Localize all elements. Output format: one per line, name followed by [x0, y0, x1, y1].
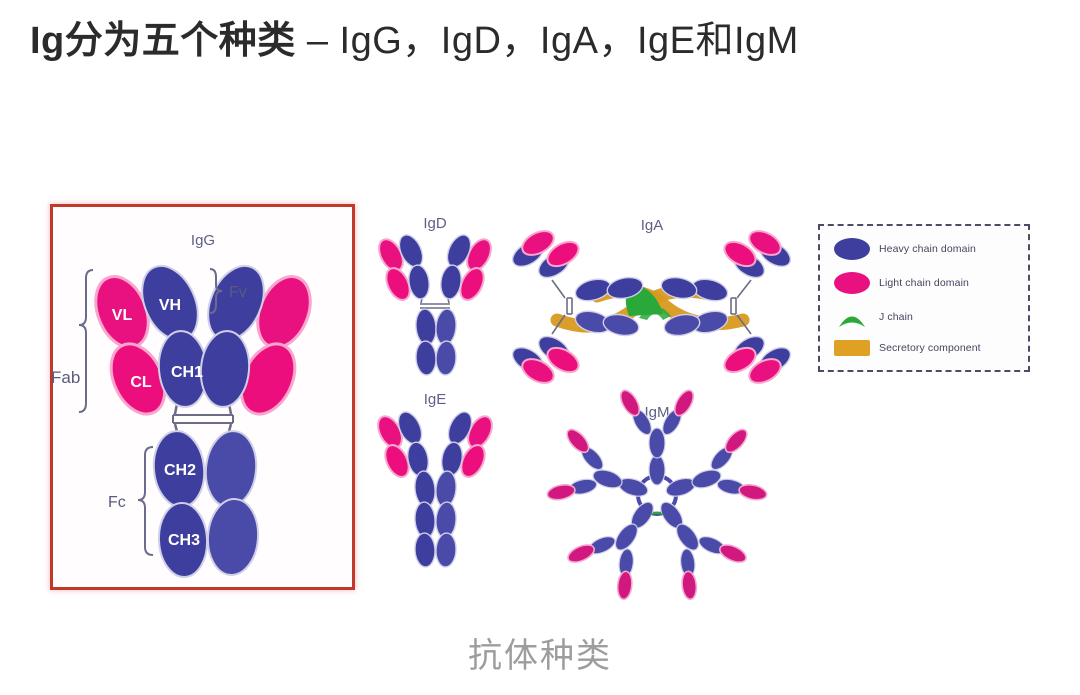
igg-region-fv: Fv: [229, 284, 247, 301]
igd-diagram: IgD: [370, 210, 500, 375]
igg-domain-vl: VL: [112, 307, 133, 324]
igd-label: IgD: [423, 215, 447, 232]
igg-domain-cl: CL: [130, 374, 152, 391]
page-title-emphasis: Ig分为五个种类: [30, 20, 296, 62]
igg-domain-ch1: CH1: [171, 364, 203, 381]
iga-panel: IgA: [505, 210, 800, 390]
figure-caption: 抗体种类: [0, 628, 1080, 677]
legend-item-light-chain: Light chain domain: [834, 272, 969, 294]
igg-region-fab: Fab: [51, 368, 80, 387]
iga-diagram: IgA: [505, 210, 800, 390]
igm-panel: IgM: [550, 395, 765, 580]
j-chain-swatch-icon: [834, 306, 870, 328]
light-chain-swatch-icon: [834, 272, 870, 294]
legend-item-secretory-component: Secretory component: [834, 340, 981, 356]
antibody-isotypes-figure: IgG: [0, 190, 1080, 610]
iga-label: IgA: [641, 217, 664, 234]
ige-diagram: IgE: [370, 386, 500, 566]
igg-region-fc: Fc: [108, 494, 126, 511]
secretory-component-swatch-icon: [834, 340, 870, 356]
legend-label-light-chain: Light chain domain: [879, 277, 969, 289]
igg-domain-vh: VH: [159, 297, 181, 314]
igd-panel: IgD: [370, 210, 500, 375]
igg-domain-ch2: CH2: [164, 462, 196, 479]
igm-diagram: IgM: [550, 395, 765, 580]
legend-label-secretory-component: Secretory component: [879, 342, 981, 354]
legend-box: Heavy chain domain Light chain domain J …: [818, 224, 1030, 372]
ige-label: IgE: [424, 391, 447, 408]
legend-label-heavy-chain: Heavy chain domain: [879, 243, 976, 255]
ige-panel: IgE: [370, 386, 500, 566]
page-title-rest: – IgG，IgD，IgA，IgE和IgM: [296, 20, 799, 62]
igg-highlight-box: IgG: [50, 204, 355, 590]
igg-domain-ch3: CH3: [168, 532, 200, 549]
legend-item-heavy-chain: Heavy chain domain: [834, 238, 976, 260]
page-title: Ig分为五个种类 – IgG，IgD，IgA，IgE和IgM: [30, 14, 1060, 69]
legend-label-j-chain: J chain: [879, 311, 913, 323]
igg-diagram: IgG: [53, 207, 352, 587]
igg-label: IgG: [191, 232, 215, 249]
j-chain-arc-icon: [834, 306, 870, 328]
legend-item-j-chain: J chain: [834, 306, 913, 328]
heavy-chain-swatch-icon: [834, 238, 870, 260]
